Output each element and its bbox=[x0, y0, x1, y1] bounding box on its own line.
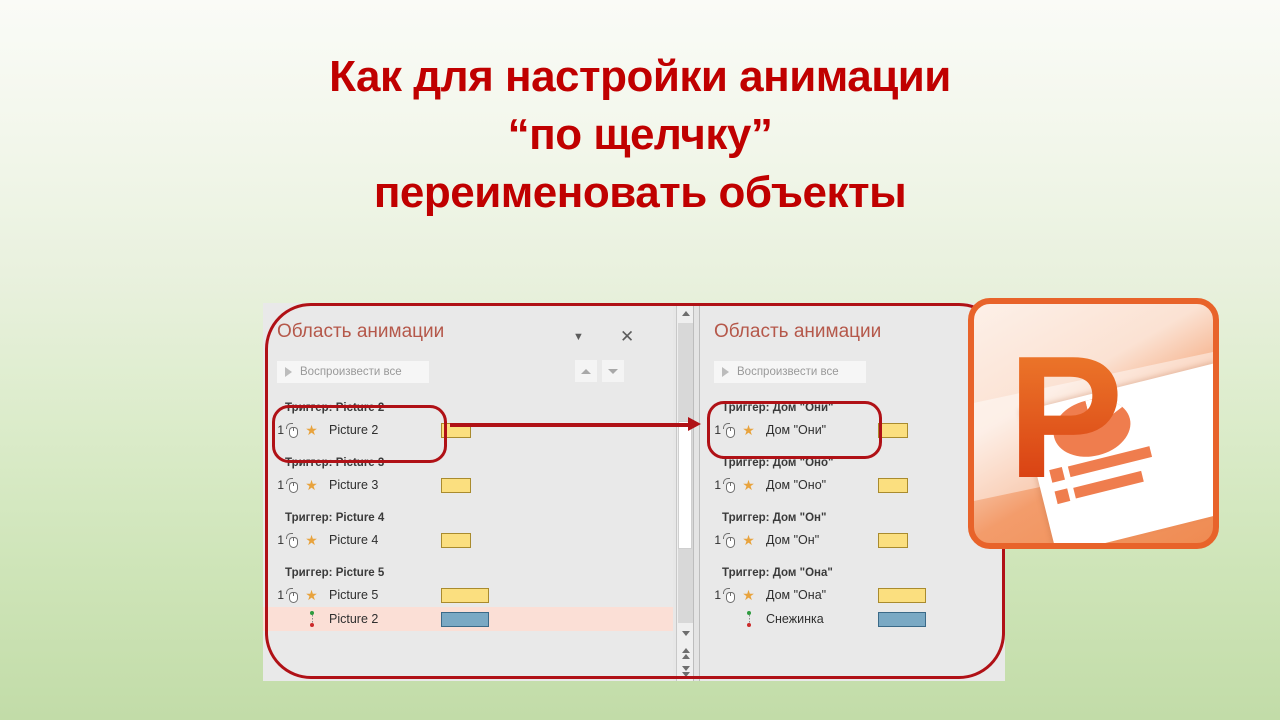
motion-path-icon bbox=[302, 610, 321, 628]
trigger-label[interactable]: Триггер: Дом "Они" bbox=[700, 399, 1005, 418]
trigger-label[interactable]: Триггер: Дом "Она" bbox=[700, 564, 1005, 583]
animation-list-item[interactable]: 1★Picture 5 bbox=[263, 583, 673, 607]
animation-order-number: 1 bbox=[263, 533, 285, 547]
star-icon: ★ bbox=[302, 588, 321, 602]
mouse-click-icon bbox=[286, 533, 300, 548]
mouse-click-icon bbox=[723, 423, 737, 438]
mouse-click-icon bbox=[723, 533, 737, 548]
animation-item-label: Дом "Он" bbox=[766, 533, 819, 547]
star-icon: ★ bbox=[739, 478, 758, 492]
animation-list-item[interactable]: 1★Дом "Она" bbox=[700, 583, 1005, 607]
double-triangle-down-icon bbox=[682, 666, 690, 677]
mouse-click-icon bbox=[723, 478, 737, 493]
play-all-button-left[interactable]: Воспроизвести все bbox=[277, 361, 429, 383]
timeline-bar[interactable] bbox=[441, 612, 489, 627]
trigger-label[interactable]: Триггер: Дом "Оно" bbox=[700, 454, 1005, 473]
annotation-arrow-line bbox=[450, 423, 692, 427]
star-icon: ★ bbox=[739, 423, 758, 437]
play-all-label: Воспроизвести все bbox=[300, 366, 402, 378]
play-all-button-right[interactable]: Воспроизвести все bbox=[714, 361, 866, 383]
trigger-label[interactable]: Триггер: Picture 4 bbox=[263, 509, 673, 528]
animation-item-label: Picture 2 bbox=[329, 612, 378, 626]
animation-item-label: Дом "Оно" bbox=[766, 478, 826, 492]
chevron-down-icon[interactable]: ▼ bbox=[573, 332, 584, 343]
mouse-click-icon bbox=[286, 478, 300, 493]
double-triangle-up-icon bbox=[682, 648, 690, 659]
star-icon: ★ bbox=[739, 588, 758, 602]
animation-group: Триггер: Дом "Оно"1★Дом "Оно" bbox=[700, 454, 1005, 497]
animation-list-item[interactable]: 1★Дом "Они" bbox=[700, 418, 1005, 442]
triangle-down-icon bbox=[608, 369, 618, 374]
vertical-scrollbar[interactable] bbox=[676, 303, 693, 681]
mouse-click-icon bbox=[286, 588, 300, 603]
title-line-2: “по щелчку” bbox=[0, 106, 1280, 164]
logo-background: P bbox=[974, 304, 1213, 543]
scroll-down-button[interactable] bbox=[678, 625, 694, 642]
timeline-bar[interactable] bbox=[878, 588, 926, 603]
animation-order-number: 1 bbox=[263, 588, 285, 602]
scrollbar-thumb[interactable] bbox=[678, 421, 692, 549]
page-title: Как для настройки анимации “по щелчку” п… bbox=[0, 48, 1280, 222]
animation-group: Триггер: Picture 41★Picture 4 bbox=[263, 509, 673, 552]
move-up-button[interactable] bbox=[575, 360, 597, 382]
powerpoint-logo: P bbox=[968, 298, 1219, 549]
timeline-bar[interactable] bbox=[878, 612, 926, 627]
animation-item-label: Дом "Она" bbox=[766, 588, 826, 602]
animation-list-item[interactable]: 1★Дом "Он" bbox=[700, 528, 1005, 552]
play-triangle-icon bbox=[722, 367, 729, 377]
pane-splitter[interactable] bbox=[693, 303, 700, 681]
play-triangle-icon bbox=[285, 367, 292, 377]
trigger-label[interactable]: Триггер: Picture 5 bbox=[263, 564, 673, 583]
logo-letter-p: P bbox=[1007, 330, 1123, 504]
star-icon: ★ bbox=[302, 478, 321, 492]
animation-order-number: 1 bbox=[263, 423, 285, 437]
animation-group: Триггер: Дом "Она"1★Дом "Она"Снежинка bbox=[700, 564, 1005, 631]
timeline-bar[interactable] bbox=[878, 533, 908, 548]
star-icon: ★ bbox=[739, 533, 758, 547]
animation-group: Триггер: Дом "Он"1★Дом "Он" bbox=[700, 509, 1005, 552]
animation-item-label: Снежинка bbox=[766, 612, 824, 626]
reorder-buttons bbox=[575, 360, 624, 382]
icon-spacer bbox=[723, 612, 737, 627]
triangle-up-icon bbox=[581, 369, 591, 374]
close-icon[interactable]: ✕ bbox=[620, 328, 634, 345]
animation-list-item[interactable]: Picture 2 bbox=[263, 607, 673, 631]
title-line-3: переименовать объекты bbox=[0, 164, 1280, 222]
animation-list-item[interactable]: 1★Picture 4 bbox=[263, 528, 673, 552]
triangle-down-icon bbox=[682, 631, 690, 636]
animation-pane-right: Область анимации Воспроизвести все Тригг… bbox=[700, 303, 1005, 681]
pane-title-left: Область анимации bbox=[277, 321, 444, 343]
previous-slide-button[interactable] bbox=[678, 645, 694, 662]
icon-spacer bbox=[286, 612, 300, 627]
animation-order-number: 1 bbox=[700, 478, 722, 492]
arrow-right-icon bbox=[688, 417, 701, 431]
animation-list-item[interactable]: 1★Picture 3 bbox=[263, 473, 673, 497]
animation-item-label: Picture 4 bbox=[329, 533, 378, 547]
animation-order-number: 1 bbox=[700, 533, 722, 547]
animation-pane-left: Область анимации ▼ ✕ Воспроизвести все Т… bbox=[263, 303, 673, 681]
pane-title-right: Область анимации bbox=[714, 321, 881, 343]
animation-item-label: Дом "Они" bbox=[766, 423, 826, 437]
screenshot-composite: Область анимации ▼ ✕ Воспроизвести все Т… bbox=[263, 303, 1005, 681]
play-all-label: Воспроизвести все bbox=[737, 366, 839, 378]
animation-order-number: 1 bbox=[700, 588, 722, 602]
trigger-label[interactable]: Триггер: Picture 2 bbox=[263, 399, 673, 418]
animation-group: Триггер: Picture 31★Picture 3 bbox=[263, 454, 673, 497]
animation-list-item[interactable]: 1★Дом "Оно" bbox=[700, 473, 1005, 497]
timeline-bar[interactable] bbox=[878, 478, 908, 493]
animation-item-label: Picture 2 bbox=[329, 423, 378, 437]
star-icon: ★ bbox=[302, 533, 321, 547]
trigger-label[interactable]: Триггер: Дом "Он" bbox=[700, 509, 1005, 528]
timeline-bar[interactable] bbox=[441, 533, 471, 548]
star-icon: ★ bbox=[302, 423, 321, 437]
triangle-up-icon bbox=[682, 311, 690, 316]
scroll-up-button[interactable] bbox=[678, 305, 694, 322]
next-slide-button[interactable] bbox=[678, 663, 694, 680]
move-down-button[interactable] bbox=[602, 360, 624, 382]
animation-group: Триггер: Picture 51★Picture 5Picture 2 bbox=[263, 564, 673, 631]
animation-item-label: Picture 5 bbox=[329, 588, 378, 602]
motion-path-icon bbox=[739, 610, 758, 628]
timeline-bar[interactable] bbox=[441, 478, 471, 493]
mouse-click-icon bbox=[286, 423, 300, 438]
animation-list-item[interactable]: 1★Picture 2 bbox=[263, 418, 673, 442]
animation-order-number: 1 bbox=[263, 478, 285, 492]
title-line-1: Как для настройки анимации bbox=[0, 48, 1280, 106]
timeline-bar[interactable] bbox=[441, 588, 489, 603]
mouse-click-icon bbox=[723, 588, 737, 603]
timeline-bar[interactable] bbox=[878, 423, 908, 438]
animation-list-left: Триггер: Picture 21★Picture 2Триггер: Pi… bbox=[263, 399, 673, 631]
animation-group: Триггер: Дом "Они"1★Дом "Они" bbox=[700, 399, 1005, 442]
animation-group: Триггер: Picture 21★Picture 2 bbox=[263, 399, 673, 442]
animation-order-number: 1 bbox=[700, 423, 722, 437]
trigger-label[interactable]: Триггер: Picture 3 bbox=[263, 454, 673, 473]
animation-list-right: Триггер: Дом "Они"1★Дом "Они"Триггер: До… bbox=[700, 399, 1005, 631]
animation-list-item[interactable]: Снежинка bbox=[700, 607, 1005, 631]
animation-item-label: Picture 3 bbox=[329, 478, 378, 492]
